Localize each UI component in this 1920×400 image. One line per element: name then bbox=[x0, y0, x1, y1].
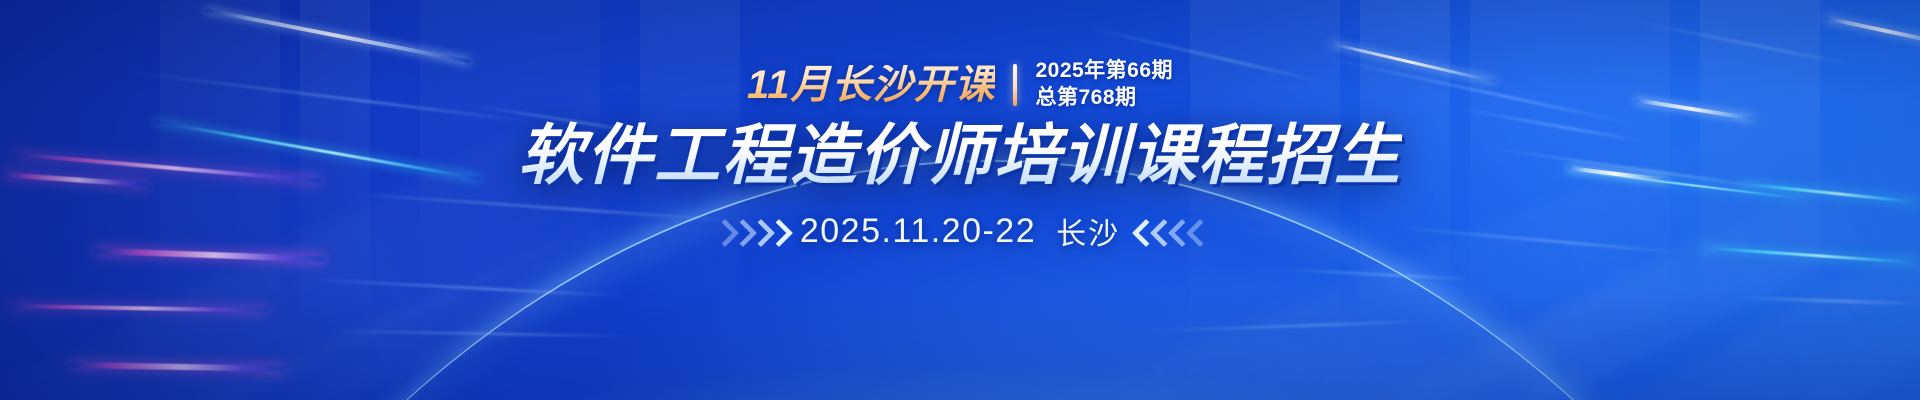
session-year-line: 2025年第66期 bbox=[1035, 59, 1173, 84]
eyebrow-divider-bar bbox=[1013, 64, 1017, 106]
event-city: 长沙 bbox=[1056, 209, 1120, 253]
eyebrow-row: 11月长沙开课 2025年第66期 总第768期 bbox=[747, 58, 1173, 112]
eyebrow-session-info: 2025年第66期 总第768期 bbox=[1035, 59, 1173, 111]
chevrons-right-icon bbox=[715, 218, 784, 244]
banner-content: 11月长沙开课 2025年第66期 总第768期 软件工程造价师培训课程招生 2… bbox=[0, 0, 1920, 400]
course-promo-banner: 11月长沙开课 2025年第66期 总第768期 软件工程造价师培训课程招生 2… bbox=[0, 0, 1920, 400]
session-total-line: 总第768期 bbox=[1035, 86, 1173, 111]
event-date: 2025.11.20-22 bbox=[800, 212, 1036, 251]
banner-headline: 软件工程造价师培训课程招生 bbox=[518, 120, 1402, 191]
eyebrow-main-text: 11月长沙开课 bbox=[747, 65, 996, 105]
chevrons-left-icon bbox=[1136, 218, 1205, 244]
dateline-row: 2025.11.20-22 长沙 bbox=[715, 209, 1205, 253]
